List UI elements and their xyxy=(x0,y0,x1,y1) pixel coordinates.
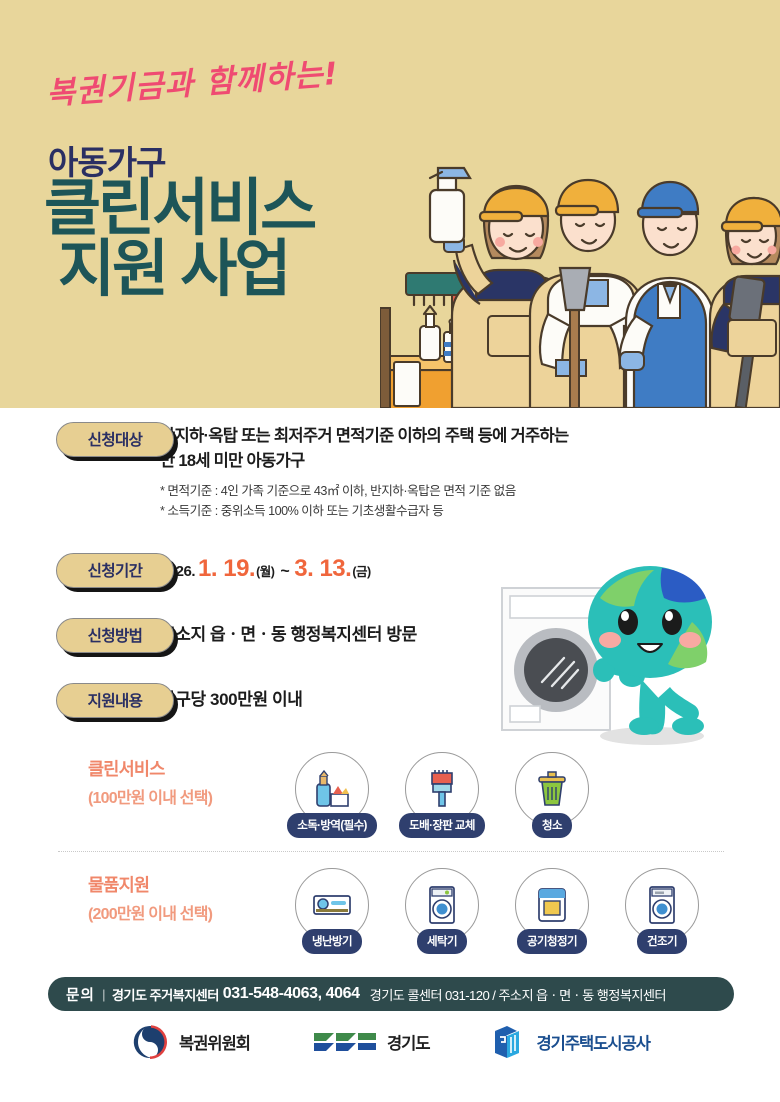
service-option-cleaning[interactable]: 청소 xyxy=(508,752,596,838)
paint-brush-icon xyxy=(421,768,463,810)
service-title-goods: 물품지원 xyxy=(88,872,212,897)
goods-option-aircon[interactable]: 냉난방기 xyxy=(288,868,376,954)
label-badge-target: 신청대상 xyxy=(56,422,174,457)
service-title-clean: 클린서비스 xyxy=(88,756,212,781)
target-note-2: * 소득기준 : 중위소득 100% 이하 또는 기초생활수급자 등 xyxy=(160,501,568,521)
logo-gyeonggi-do: 경기도 xyxy=(312,1027,430,1057)
service-subtitle-clean: (100만원 이내 선택) xyxy=(88,784,212,808)
info-row-target-body: 반지하·옥탑 또는 최저주거 면적기준 이하의 주택 등에 거주하는 만 18세… xyxy=(160,422,568,521)
trash-bin-icon xyxy=(531,768,573,810)
earth-globe-mascot-icon xyxy=(492,560,742,755)
goods-option-dryer[interactable]: 건조기 xyxy=(618,868,706,954)
service-caption: 소독·방역(필수) xyxy=(287,813,377,838)
logo-gh-corporation: 경기주택도시공사 xyxy=(492,1023,650,1061)
footer-logos: 복권위원회 경기도 경기주택도시공사 xyxy=(0,1022,780,1062)
gyeonggi-arrows-icon xyxy=(312,1027,378,1057)
logo-label: 경기도 xyxy=(387,1030,430,1054)
worker-4 xyxy=(710,198,780,408)
service-option-wallpaper[interactable]: 도배·장판 교체 xyxy=(398,752,486,838)
target-lead-line2: 만 18세 미만 아동가구 xyxy=(160,449,568,474)
label-cell: 신청기간 xyxy=(0,553,160,588)
service-icons-goods: 냉난방기 세탁기 xyxy=(288,868,706,954)
period-tilde: ~ xyxy=(280,563,289,581)
service-heading-clean: 클린서비스 (100만원 이내 선택) xyxy=(88,756,212,808)
air-purifier-icon xyxy=(530,883,574,927)
label-badge-period: 신청기간 xyxy=(56,553,174,588)
info-row-target: 신청대상 반지하·옥탑 또는 최저주거 면적기준 이하의 주택 등에 거주하는 … xyxy=(0,422,780,521)
info-row-support-body: 가구당 300만원 이내 xyxy=(160,683,303,710)
hero-banner: 복권기금과 함께하는! 아동가구 클린서비스 지원 사업 .ln{fill:no… xyxy=(0,0,780,408)
service-caption: 도배·장판 교체 xyxy=(399,813,485,838)
label-badge-method: 신청방법 xyxy=(56,618,174,653)
goods-caption: 세탁기 xyxy=(417,929,467,954)
label-cell: 지원내용 xyxy=(0,683,160,718)
service-subtitle-goods: (200만원 이내 선택) xyxy=(88,900,212,924)
logo-lottery-commission: 복권위원회 xyxy=(130,1022,250,1062)
page-title-line2: 지원 사업 xyxy=(44,239,314,300)
hero-script-line: 복권기금과 함께하는! xyxy=(45,48,340,113)
goods-caption: 공기청정기 xyxy=(517,929,587,954)
service-icons-clean: 소독·방역(필수) 도배·장판 교체 xyxy=(288,752,596,838)
spray-bottle-icon xyxy=(311,768,353,810)
period-start-date: 1. 19. xyxy=(198,555,255,583)
taegeuk-icon xyxy=(130,1022,170,1062)
gh-cube-icon xyxy=(492,1023,528,1061)
goods-option-washer[interactable]: 세탁기 xyxy=(398,868,486,954)
contact-label: 문의 xyxy=(66,984,95,1005)
washing-machine-icon xyxy=(420,883,464,927)
service-heading-goods: 물품지원 (200만원 이내 선택) xyxy=(88,872,212,924)
logo-label: 경기주택도시공사 xyxy=(537,1030,650,1054)
contact-phone[interactable]: 031-548-4063, 4064 xyxy=(223,985,360,1003)
method-value: 주소지 읍ㆍ면ㆍ동 행정복지센터 방문 xyxy=(160,620,417,645)
logo-label: 복권위원회 xyxy=(179,1030,250,1054)
goods-caption: 냉난방기 xyxy=(302,929,362,954)
goods-option-purifier[interactable]: 공기청정기 xyxy=(508,868,596,954)
label-cell: 신청대상 xyxy=(0,422,160,457)
service-option-disinfection[interactable]: 소독·방역(필수) xyxy=(288,752,376,838)
contact-rest: 경기도 콜센터 031-120 / 주소지 읍ㆍ면ㆍ동 행정복지센터 xyxy=(370,985,666,1004)
application-period: 2026. 1. 19. (월) ~ 3. 13. (금) xyxy=(160,555,372,583)
contact-bar: 문의 | 경기도 주거복지센터 031-548-4063, 4064 경기도 콜… xyxy=(48,977,734,1011)
contact-org: 경기도 주거복지센터 xyxy=(112,985,219,1004)
service-caption: 청소 xyxy=(532,813,572,838)
air-conditioner-icon xyxy=(310,883,354,927)
target-lead-line1: 반지하·옥탑 또는 최저주거 면적기준 이하의 주택 등에 거주하는 xyxy=(160,424,568,449)
mascot-head xyxy=(588,566,712,678)
worker-3 xyxy=(620,182,716,408)
dryer-icon xyxy=(640,883,684,927)
period-end-date: 3. 13. xyxy=(294,555,351,583)
support-value: 가구당 300만원 이내 xyxy=(160,685,303,710)
page-title-line1: 클린서비스 xyxy=(44,178,314,239)
section-divider xyxy=(58,851,724,852)
period-end-dow: (금) xyxy=(352,561,370,580)
target-note-1: * 면적기준 : 4인 가족 기준으로 43㎡ 이하, 반지하·옥탑은 면적 기… xyxy=(160,481,568,501)
contact-separator: | xyxy=(102,987,105,1002)
label-cell: 신청방법 xyxy=(0,618,160,653)
info-row-method-body: 주소지 읍ㆍ면ㆍ동 행정복지센터 방문 xyxy=(160,618,417,645)
label-badge-support: 지원내용 xyxy=(56,683,174,718)
page-title: 클린서비스 지원 사업 xyxy=(44,178,314,301)
poster-root: 복권기금과 함께하는! 아동가구 클린서비스 지원 사업 .ln{fill:no… xyxy=(0,0,780,1102)
spray-bottle xyxy=(430,168,470,242)
cleaning-workers-illustration: .ln{fill:none;stroke:#4a3b2a;stroke-widt… xyxy=(380,108,780,408)
target-notes: * 면적기준 : 4인 가족 기준으로 43㎡ 이하, 반지하·옥탑은 면적 기… xyxy=(160,481,568,522)
period-start-dow: (월) xyxy=(256,561,274,580)
goods-caption: 건조기 xyxy=(637,929,687,954)
info-row-period-body: 2026. 1. 19. (월) ~ 3. 13. (금) xyxy=(160,553,372,583)
